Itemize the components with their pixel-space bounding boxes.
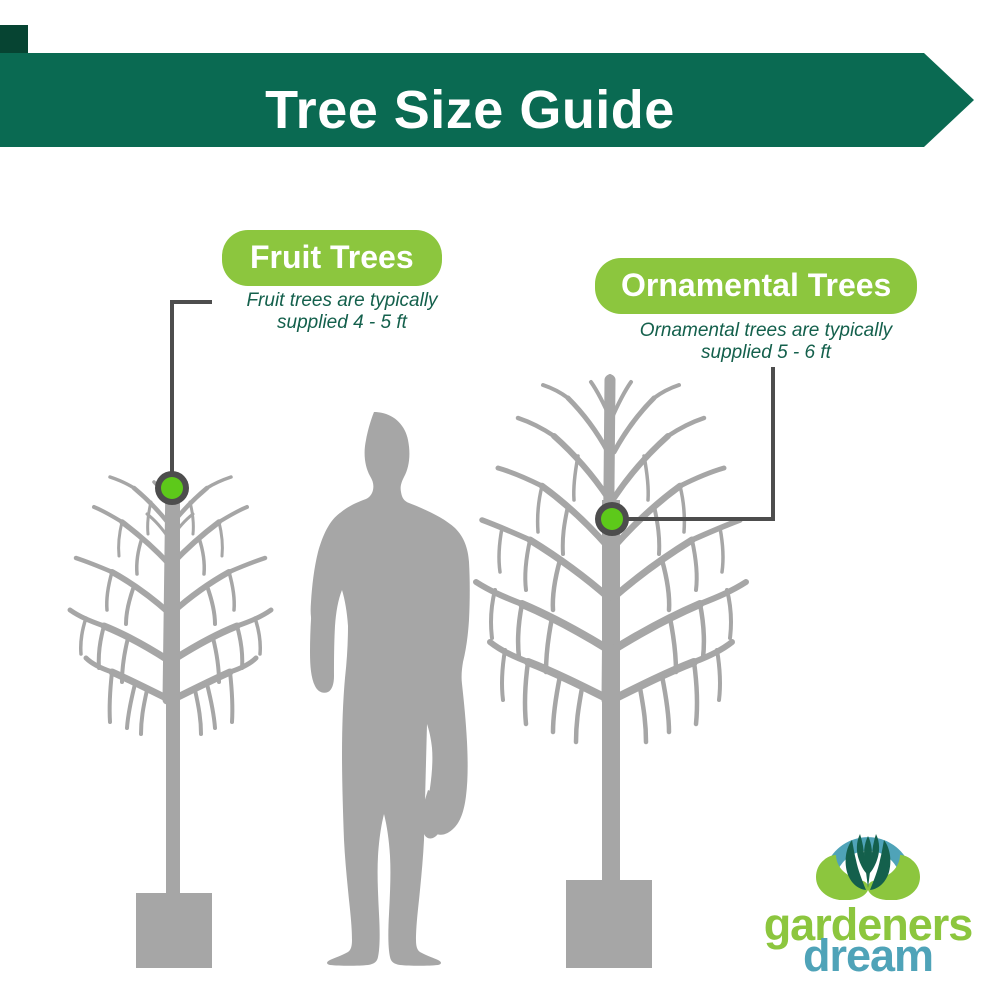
brand-logo: gardeners dream: [748, 800, 988, 980]
logo-word-dream: dream: [748, 933, 988, 978]
fruit-trees-caption: Fruit trees are typically supplied 4 - 5…: [208, 290, 476, 334]
ornamental-caption-line-1: Ornamental trees are typically: [600, 320, 932, 342]
ornamental-trees-label: Ornamental Trees: [595, 258, 917, 314]
fruit-marker-dot: [161, 477, 183, 499]
infographic-canvas: Tree Size Guide: [0, 0, 1000, 1000]
fruit-leader-line: [155, 302, 212, 505]
ornamental-marker-ring: [595, 502, 629, 536]
ornamental-caption-line-2: supplied 5 - 6 ft: [600, 342, 932, 364]
ornamental-marker-dot: [601, 508, 623, 530]
ornamental-tree-figure: [476, 376, 746, 968]
fruit-marker-ring: [155, 471, 189, 505]
ornamental-leader-line: [595, 367, 773, 536]
fruit-tree-figure: [70, 477, 271, 968]
ornamental-trees-caption: Ornamental trees are typically supplied …: [600, 320, 932, 364]
logo-emblem-icon: [748, 800, 988, 900]
fruit-trees-label: Fruit Trees: [222, 230, 442, 286]
person-figure: [310, 412, 470, 966]
fruit-caption-line-1: Fruit trees are typically: [208, 290, 476, 312]
header-banner: Tree Size Guide: [0, 24, 1000, 170]
fruit-caption-line-2: supplied 4 - 5 ft: [208, 312, 476, 334]
page-title: Tree Size Guide: [0, 79, 940, 141]
